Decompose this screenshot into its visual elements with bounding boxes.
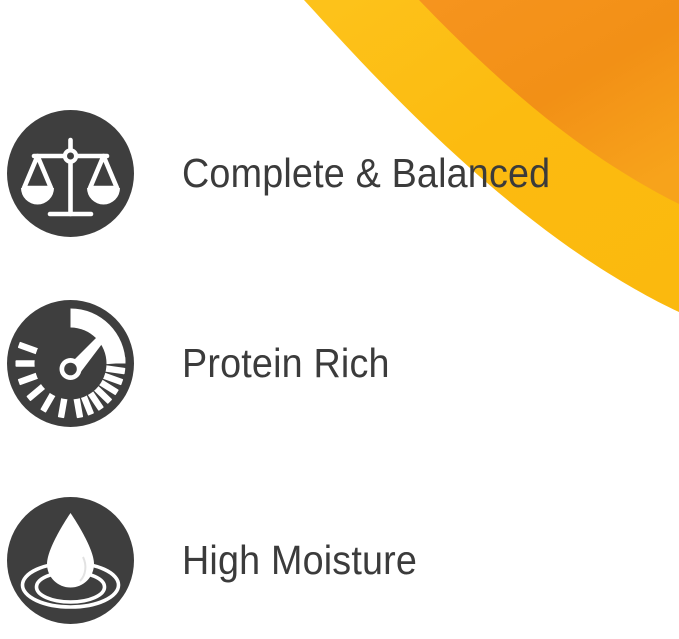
feature-label: Complete & Balanced bbox=[182, 153, 550, 194]
feature-row: Protein Rich bbox=[0, 298, 679, 428]
feature-row: High Moisture bbox=[0, 495, 679, 625]
water-drop-icon bbox=[7, 497, 134, 624]
gauge-hub-ring-inner bbox=[64, 362, 77, 375]
balance-scale-icon bbox=[7, 110, 134, 237]
feature-row: Complete & Balanced bbox=[0, 108, 679, 238]
scale-pivot-knob bbox=[65, 150, 76, 161]
gauge-icon bbox=[7, 300, 134, 427]
feature-label: High Moisture bbox=[182, 540, 417, 581]
feature-highlights-panel: Complete & Balanced bbox=[0, 0, 679, 639]
feature-label: Protein Rich bbox=[182, 343, 390, 384]
